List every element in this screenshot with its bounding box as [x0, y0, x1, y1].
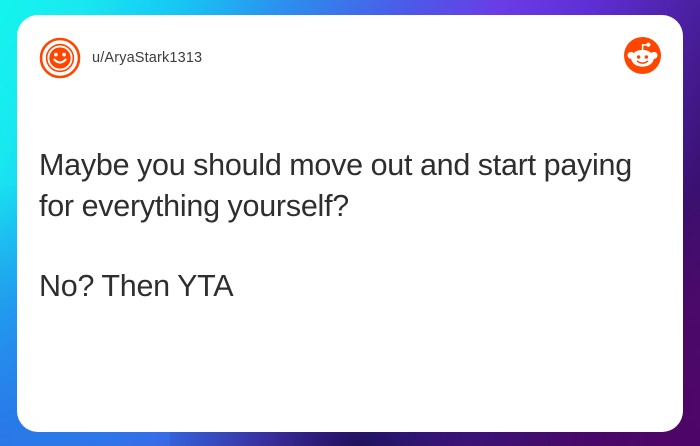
- author-username: u/AryaStark1313: [92, 51, 202, 66]
- reddit-comment-card: u/AryaStark1313 Maybe you should: [17, 15, 683, 432]
- smiley-face-avatar-icon: [39, 37, 81, 79]
- card-header: u/AryaStark1313: [17, 15, 683, 107]
- reddit-snoo-logo-icon[interactable]: [624, 37, 661, 74]
- comment-paragraph: No? Then YTA: [39, 266, 657, 307]
- comment-body: Maybe you should move out and start payi…: [39, 145, 657, 307]
- author-block[interactable]: u/AryaStark1313: [39, 37, 202, 79]
- comment-paragraph: Maybe you should move out and start payi…: [39, 145, 657, 228]
